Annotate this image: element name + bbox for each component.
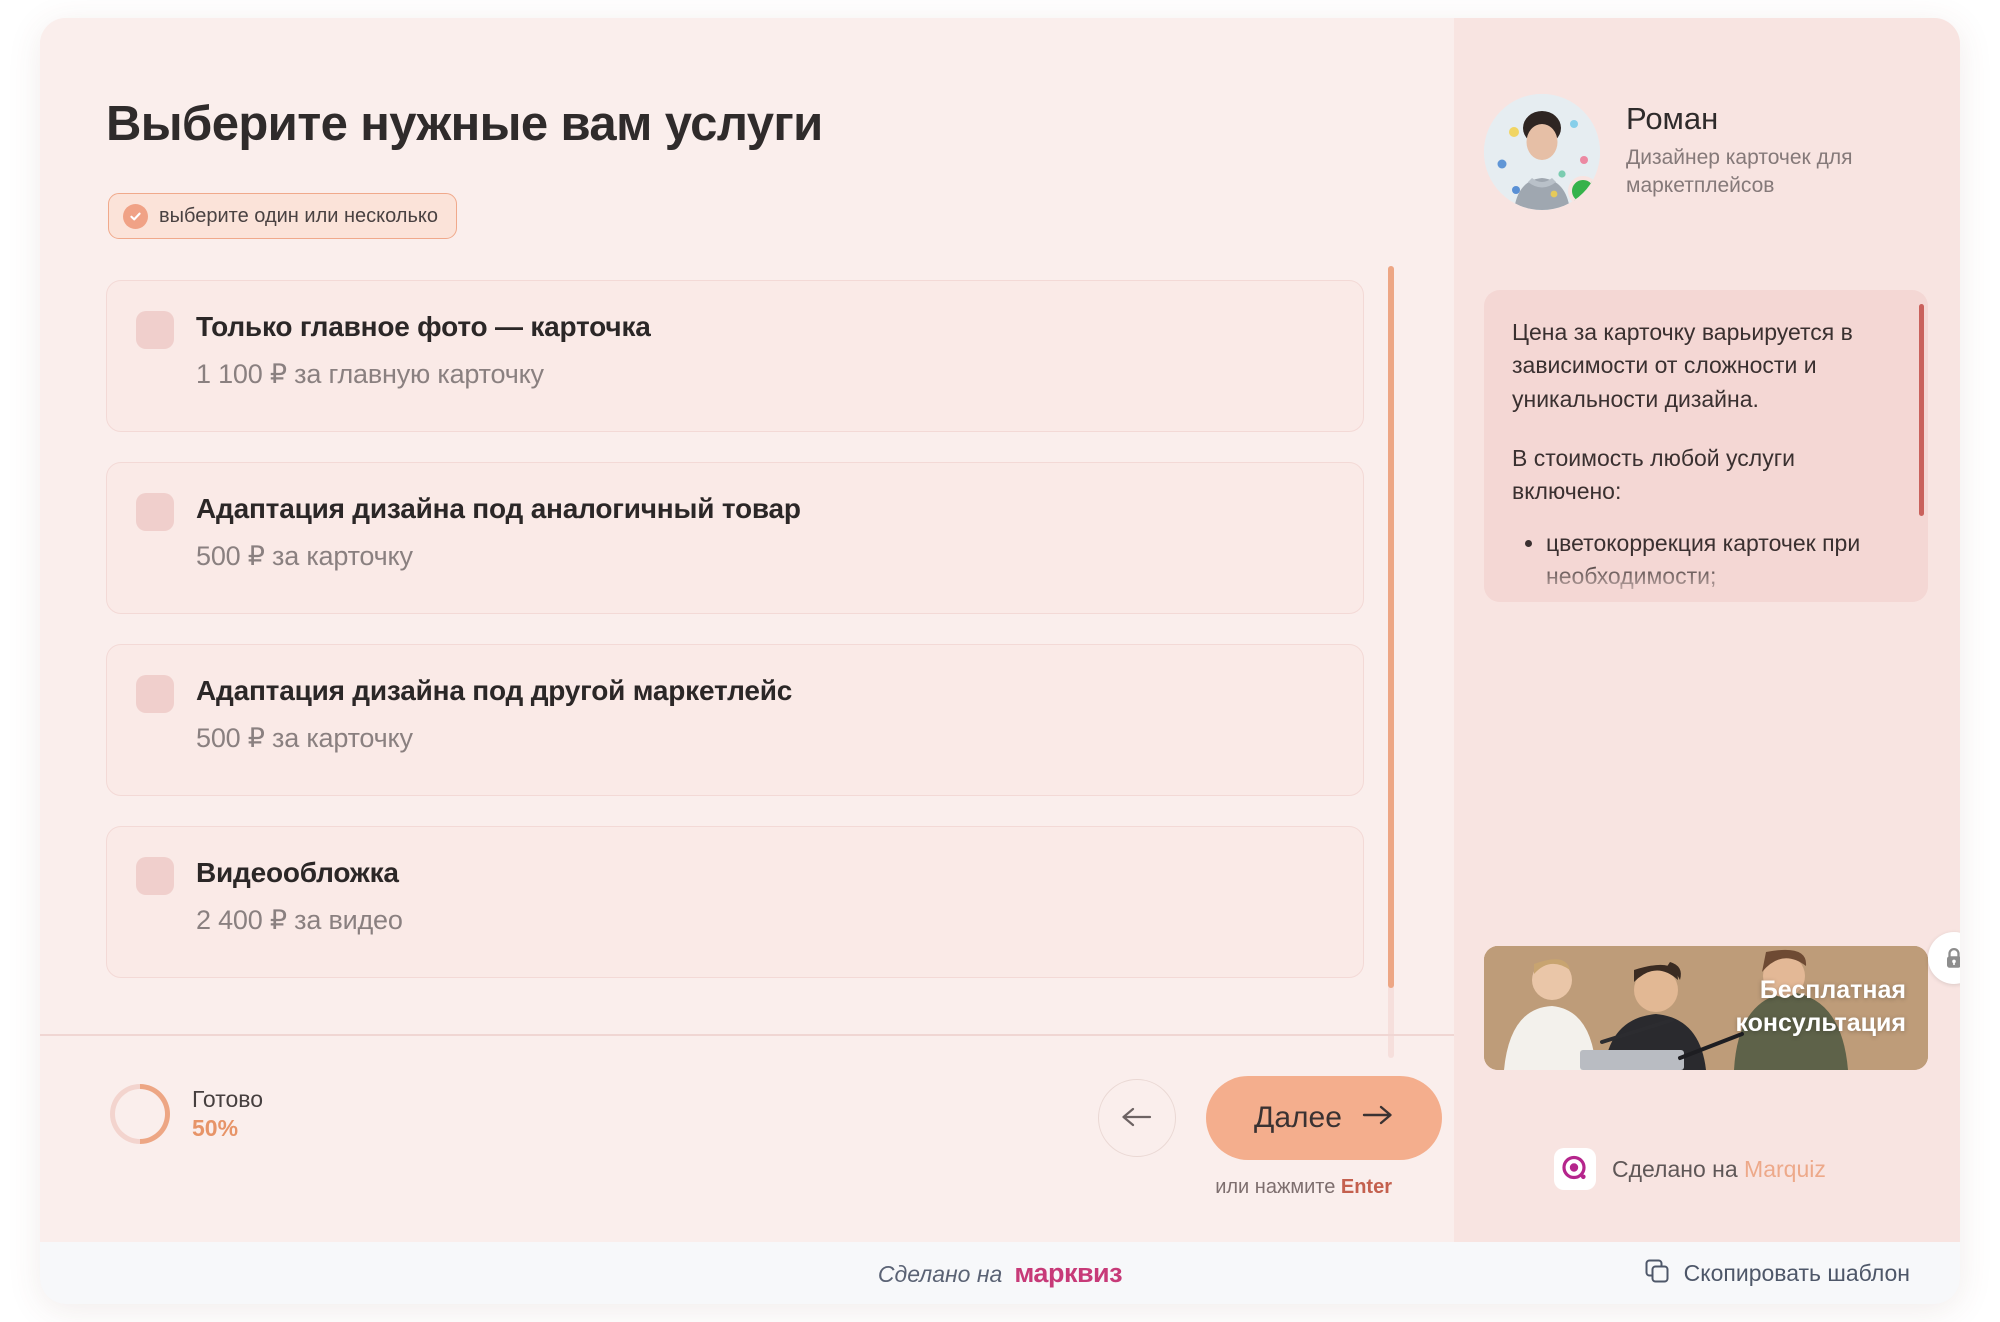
page-title: Выберите нужные вам услуги bbox=[106, 96, 823, 152]
progress-indicator: Готово 50% bbox=[110, 1084, 263, 1144]
option-price: 2 400 ₽ за видео bbox=[196, 905, 1333, 936]
option-card[interactable]: Только главное фото — карточка 1 100 ₽ з… bbox=[106, 280, 1364, 432]
check-circle-icon bbox=[123, 204, 148, 229]
progress-value: 50% bbox=[192, 1114, 263, 1143]
navigation-buttons: Далее bbox=[1098, 1076, 1442, 1160]
option-label: Адаптация дизайна под аналогичный товар bbox=[196, 491, 801, 527]
info-paragraph: Цена за карточку варьируется в зависимос… bbox=[1512, 316, 1894, 416]
expert-role: Дизайнер карточек для маркетплейсов bbox=[1626, 144, 1926, 201]
option-price: 500 ₽ за карточку bbox=[196, 723, 1333, 754]
enter-hint-key: Enter bbox=[1341, 1176, 1392, 1198]
progress-label: Готово bbox=[192, 1085, 263, 1114]
option-label: Видеообложка bbox=[196, 855, 399, 891]
quiz-body: Выберите нужные вам услуги выберите один… bbox=[40, 18, 1960, 1242]
promo-line-1: Бесплатная bbox=[1735, 974, 1906, 1007]
bottom-made-prefix: Сделано на bbox=[878, 1261, 1002, 1288]
option-card[interactable]: Видеообложка 2 400 ₽ за видео bbox=[106, 826, 1364, 978]
expert-block: Роман Дизайнер карточек для маркетплейсо… bbox=[1484, 94, 1926, 210]
option-price: 1 100 ₽ за главную карточку bbox=[196, 359, 1333, 390]
option-card[interactable]: Адаптация дизайна под аналогичный товар … bbox=[106, 462, 1364, 614]
bottom-bar: Сделано на марквиз Скопировать шаблон bbox=[40, 1242, 1960, 1304]
sidebar-panel: Роман Дизайнер карточек для маркетплейсо… bbox=[1454, 18, 1960, 1242]
enter-hint: или нажмите Enter bbox=[1215, 1176, 1392, 1199]
progress-ring bbox=[110, 1084, 170, 1144]
next-button-label: Далее bbox=[1254, 1101, 1342, 1135]
expert-name: Роман bbox=[1626, 102, 1926, 136]
copy-icon bbox=[1644, 1258, 1670, 1289]
copy-template-button[interactable]: Скопировать шаблон bbox=[1644, 1242, 1910, 1304]
multi-select-hint: выберите один или несколько bbox=[108, 193, 457, 239]
option-checkbox[interactable] bbox=[136, 493, 174, 531]
made-on-marquiz-label: Сделано на Marquiz bbox=[1612, 1156, 1826, 1183]
enter-hint-prefix: или нажмите bbox=[1215, 1176, 1341, 1198]
options-list: Только главное фото — карточка 1 100 ₽ з… bbox=[106, 280, 1396, 1040]
option-label: Адаптация дизайна под другой маркетлейс bbox=[196, 673, 792, 709]
option-price: 500 ₽ за карточку bbox=[196, 541, 1333, 572]
marquiz-logo-icon bbox=[1554, 1148, 1596, 1190]
option-checkbox[interactable] bbox=[136, 311, 174, 349]
quiz-window: Выберите нужные вам услуги выберите один… bbox=[40, 18, 1960, 1304]
back-button[interactable] bbox=[1098, 1079, 1176, 1157]
options-scrollbar-thumb[interactable] bbox=[1388, 266, 1394, 988]
option-card[interactable]: Адаптация дизайна под другой маркетлейс … bbox=[106, 644, 1364, 796]
info-paragraph: В стоимость любой услуги включено: bbox=[1512, 442, 1894, 509]
next-button[interactable]: Далее bbox=[1206, 1076, 1442, 1160]
avatar bbox=[1484, 94, 1600, 210]
bottom-made-on[interactable]: Сделано на марквиз bbox=[878, 1258, 1122, 1289]
promo-line-2: консультация bbox=[1735, 1007, 1906, 1040]
online-status-dot bbox=[1568, 176, 1598, 206]
quiz-footer: Готово 50% Далее bbox=[40, 1036, 1454, 1242]
copy-template-label: Скопировать шаблон bbox=[1684, 1260, 1910, 1287]
made-on-prefix: Сделано на bbox=[1612, 1156, 1744, 1182]
option-label: Только главное фото — карточка bbox=[196, 309, 651, 345]
bottom-made-brand: марквиз bbox=[1014, 1258, 1122, 1289]
main-panel: Выберите нужные вам услуги выберите один… bbox=[40, 18, 1454, 1242]
info-card-scrollbar[interactable] bbox=[1919, 304, 1924, 516]
option-checkbox[interactable] bbox=[136, 675, 174, 713]
lock-icon[interactable] bbox=[1928, 932, 1960, 984]
option-checkbox[interactable] bbox=[136, 857, 174, 895]
made-on-marquiz-sidebar[interactable]: Сделано на Marquiz bbox=[1554, 1148, 1826, 1190]
info-card-fade bbox=[1484, 560, 1928, 602]
arrow-right-icon bbox=[1360, 1101, 1394, 1135]
info-card: Цена за карточку варьируется в зависимос… bbox=[1484, 290, 1928, 602]
multi-select-hint-label: выберите один или несколько bbox=[159, 205, 438, 228]
arrow-left-icon bbox=[1120, 1105, 1154, 1132]
made-on-brand: Marquiz bbox=[1744, 1156, 1826, 1182]
promo-banner[interactable]: Бесплатная консультация bbox=[1484, 946, 1928, 1070]
promo-text: Бесплатная консультация bbox=[1735, 974, 1906, 1040]
